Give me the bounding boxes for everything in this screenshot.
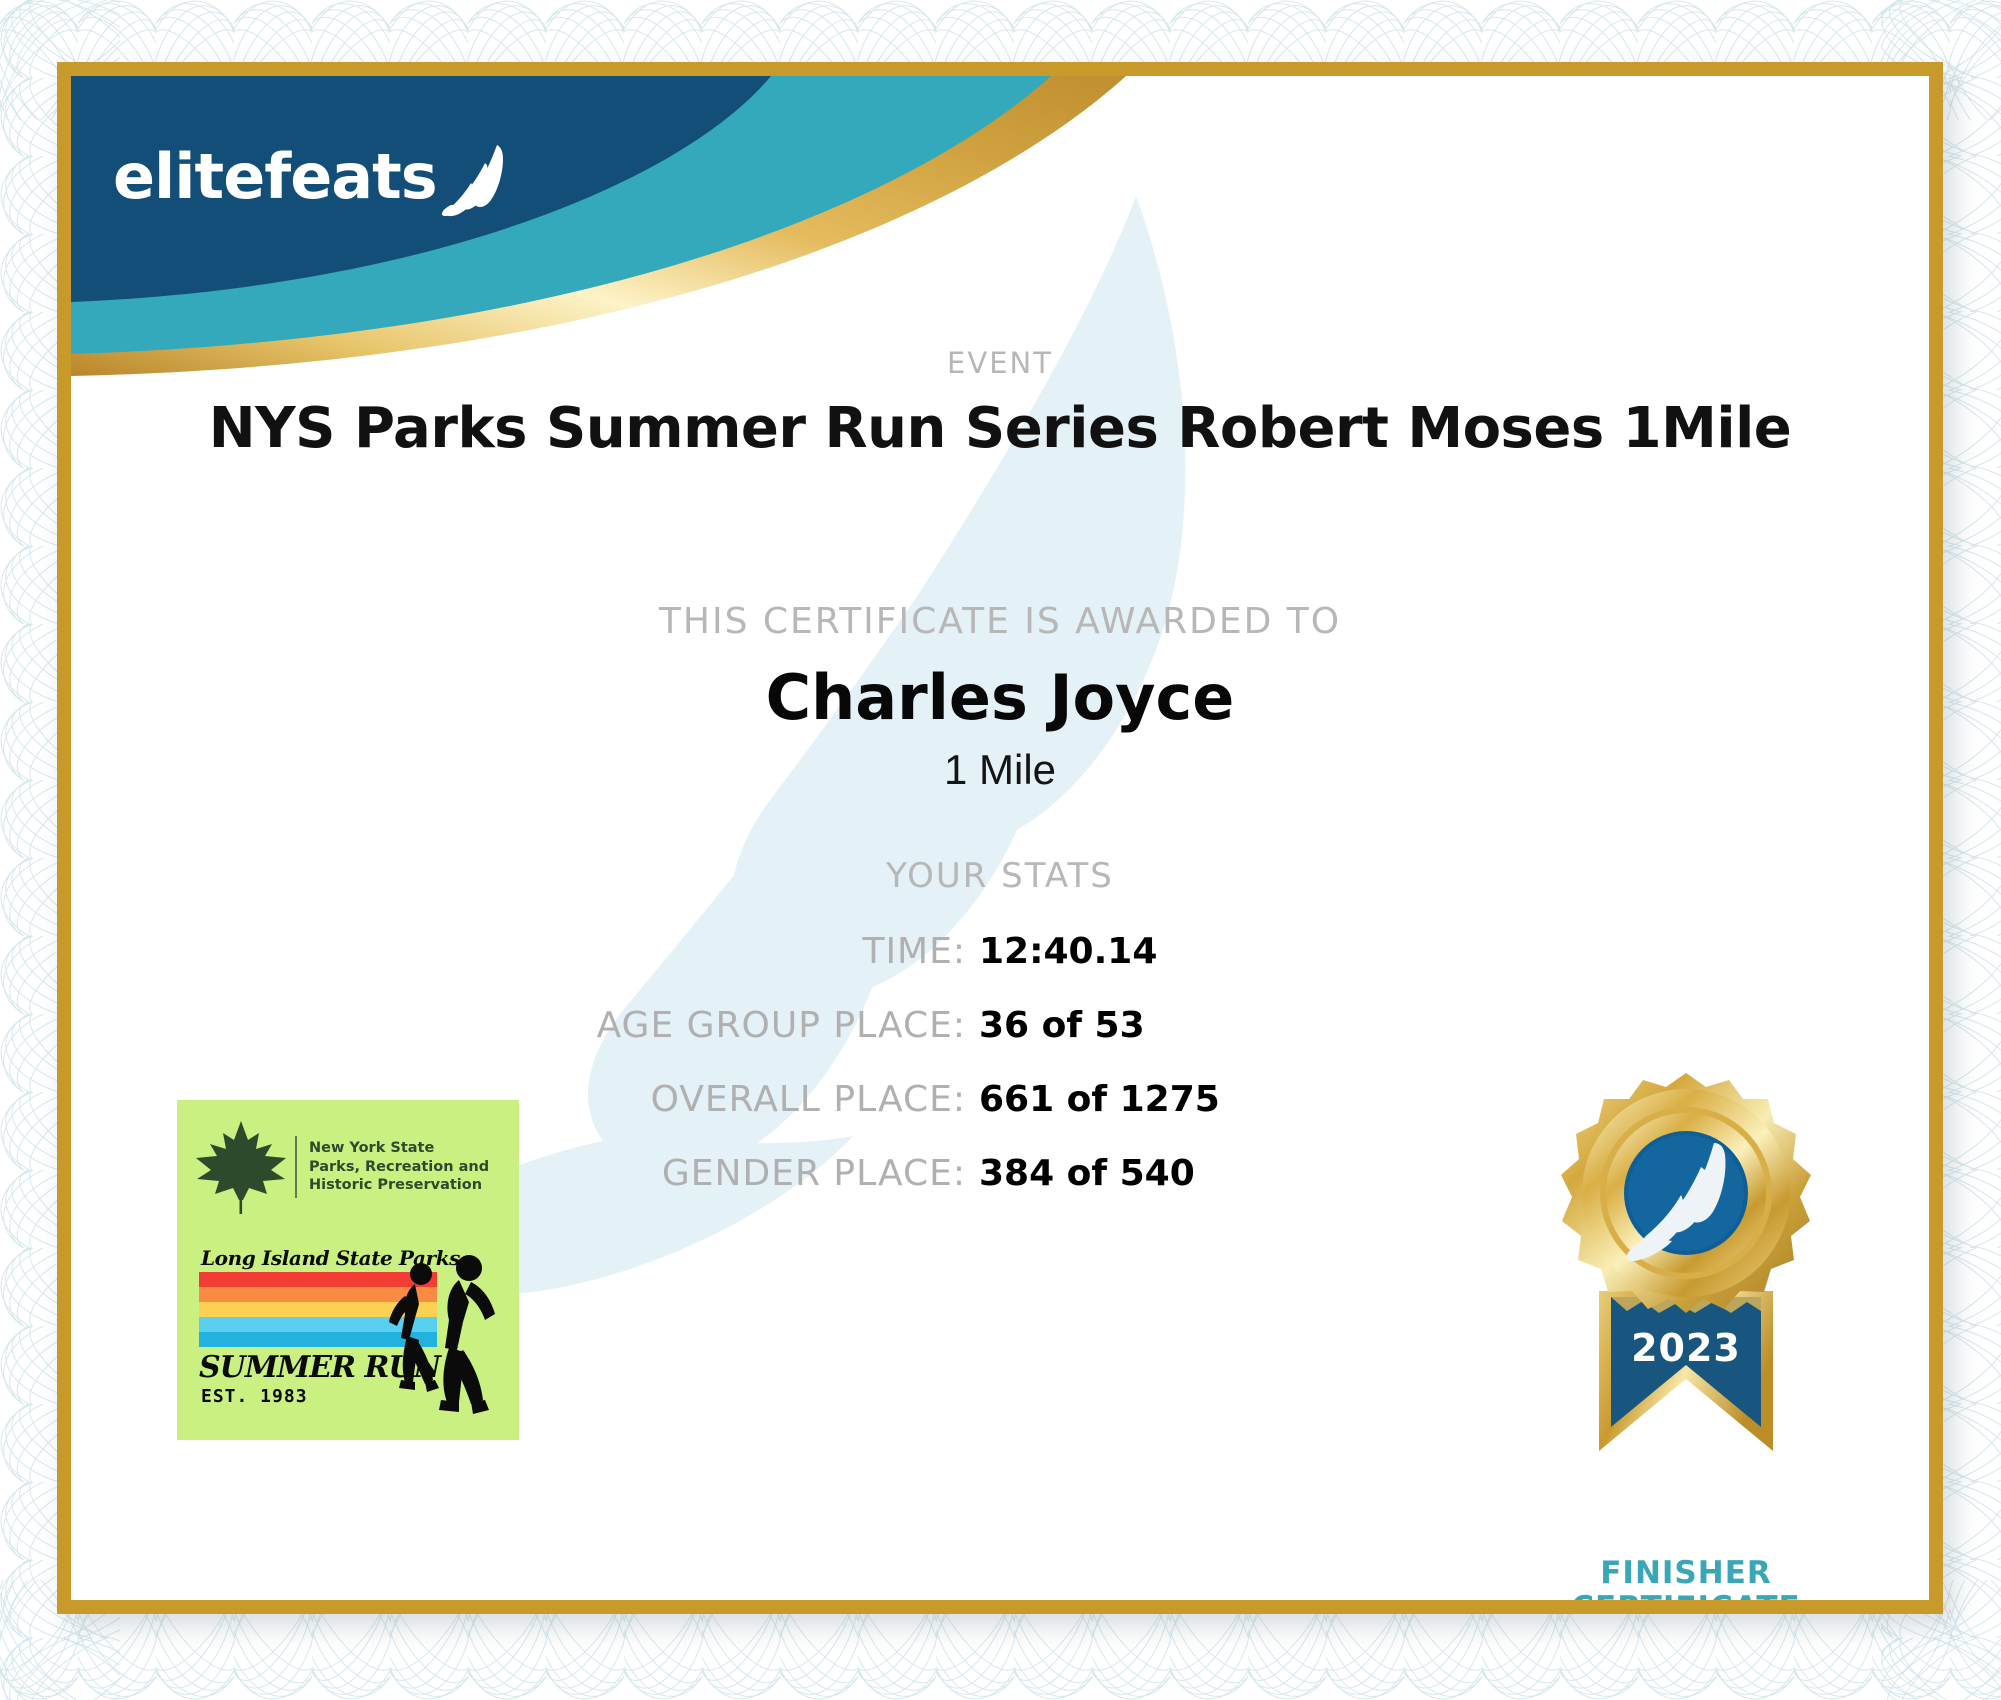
badge-ribbon — [1599, 1291, 1773, 1451]
stat-value-overall-place: 661 of 1275 — [966, 1079, 1220, 1120]
summer-run-established: EST. 1983 — [201, 1386, 308, 1407]
agency-line-3: Historic Preservation — [309, 1176, 489, 1195]
stat-value-age-group-place: 36 of 53 — [966, 1005, 1145, 1046]
finisher-caption-line-1: FINISHER — [1511, 1556, 1861, 1591]
maple-leaf-icon — [193, 1118, 289, 1216]
finisher-medal-badge: 2023 — [1531, 1061, 1841, 1481]
agency-line-2: Parks, Recreation and — [309, 1158, 489, 1177]
stat-row-time: TIME: 12:40.14 — [71, 931, 1251, 993]
event-kicker: EVENT — [71, 346, 1929, 380]
summer-run-logo: Long Island State Parks SUMMER RUN EST. … — [193, 1246, 505, 1422]
stat-value-time: 12:40.14 — [966, 931, 1157, 972]
recipient-name: Charles Joyce — [71, 661, 1929, 734]
finisher-caption-line-2: CERTIFICATE — [1511, 1591, 1861, 1614]
nys-parks-logo: New York State Parks, Recreation and His… — [193, 1118, 489, 1216]
stat-row-age-group-place: AGE GROUP PLACE: 36 of 53 — [71, 1005, 1251, 1067]
runners-silhouette-icon — [385, 1252, 509, 1420]
stats-kicker: YOUR STATS — [71, 856, 1929, 896]
certificate-card: elitefeats EVENT NYS Parks Summer Run Se… — [57, 62, 1943, 1614]
certificate-body: EVENT NYS Parks Summer Run Series Robert… — [71, 76, 1929, 1600]
stat-label-age-group-place: AGE GROUP PLACE: — [71, 1005, 966, 1046]
stat-value-gender-place: 384 of 540 — [966, 1153, 1195, 1194]
recipient-distance: 1 Mile — [71, 746, 1929, 794]
badge-year-text: 2023 — [1631, 1326, 1741, 1370]
stat-label-time: TIME: — [71, 931, 966, 972]
sponsor-logo: New York State Parks, Recreation and His… — [177, 1100, 519, 1440]
badge-medal — [1561, 1073, 1811, 1313]
event-title: NYS Parks Summer Run Series Robert Moses… — [71, 396, 1929, 461]
awarded-kicker: THIS CERTIFICATE IS AWARDED TO — [71, 601, 1929, 642]
nys-parks-agency-name: New York State Parks, Recreation and His… — [309, 1139, 489, 1196]
logo-divider — [295, 1136, 297, 1198]
agency-line-1: New York State — [309, 1139, 489, 1158]
finisher-caption: FINISHER CERTIFICATE — [1511, 1556, 1861, 1614]
